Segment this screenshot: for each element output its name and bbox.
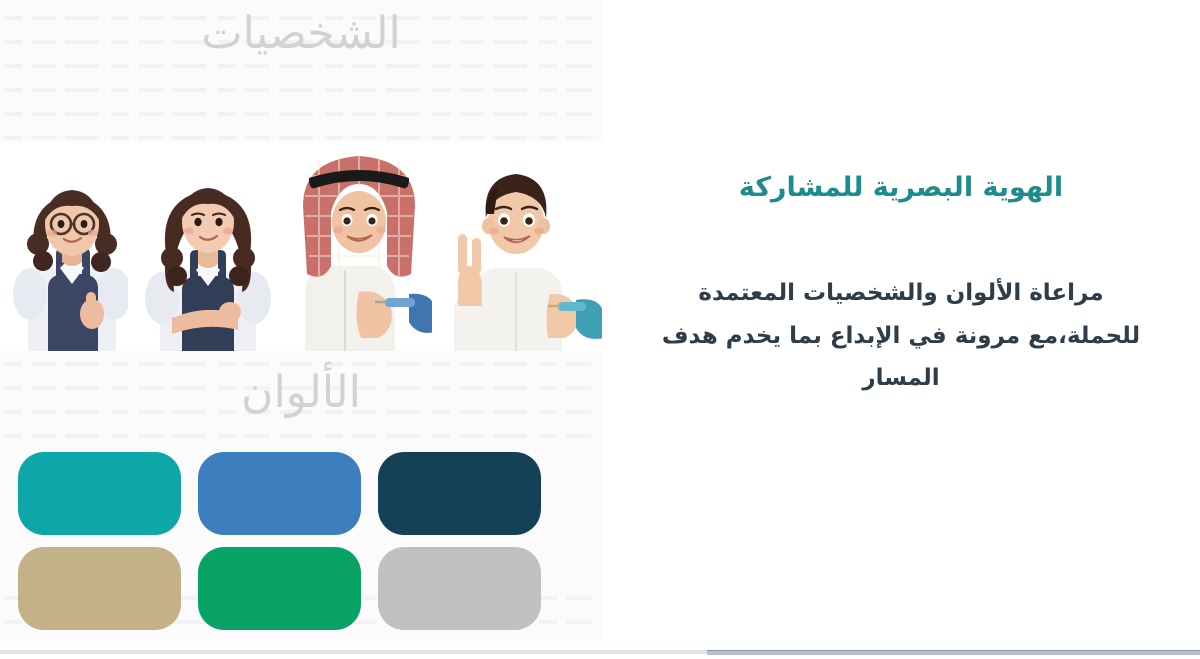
bottom-divider-left (0, 650, 707, 654)
character-card-boy-peace-sign-vaccination (432, 142, 602, 351)
presentation-slide: الشخصيات (0, 0, 1200, 659)
character-card-girl-long-hair (128, 142, 288, 351)
color-swatch-navy[interactable] (378, 452, 541, 535)
color-palette-grid (0, 452, 550, 641)
color-swatch-green[interactable] (198, 547, 361, 630)
characters-section-heading: الشخصيات (0, 12, 602, 56)
description-panel: الهوية البصرية للمشاركة مراعاة الألوان و… (602, 0, 1200, 641)
visual-identity-panel: الشخصيات (0, 0, 602, 641)
color-swatch-tan[interactable] (18, 547, 181, 630)
color-swatch-teal[interactable] (18, 452, 181, 535)
description-text: مراعاة الألوان والشخصيات المعتمدة للحملة… (660, 272, 1142, 400)
color-swatch-blue[interactable] (198, 452, 361, 535)
character-card-boy-shemagh-vaccination (283, 142, 435, 351)
color-swatch-light-gray[interactable] (378, 547, 541, 630)
characters-gallery (0, 142, 602, 351)
colors-section-heading: الألوان (0, 371, 602, 415)
bottom-scrollbar-track[interactable] (707, 650, 1200, 655)
page-title: الهوية البصرية للمشاركة (602, 170, 1200, 205)
